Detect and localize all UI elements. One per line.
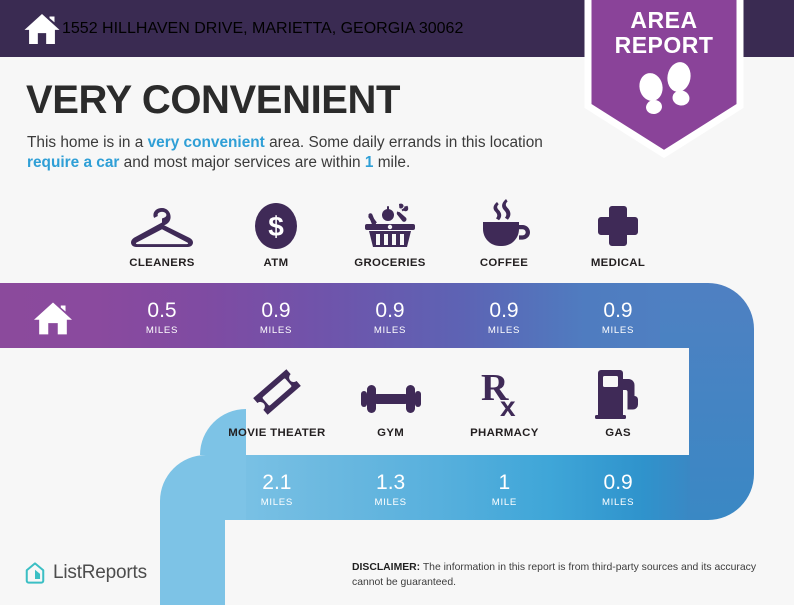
disclaimer: DISCLAIMER: The information in this repo…: [352, 561, 784, 591]
distance-value: 0.9: [604, 472, 633, 493]
icon-label-cleaners: CLEANERS: [129, 257, 194, 269]
icon-cell-gas: GAS: [561, 368, 675, 439]
icon-cell-gym: GYM: [334, 368, 448, 439]
distance-row-secondary: 2.1 MILES 1.3 MILES 1 MILE 0.9 MILES: [220, 460, 675, 520]
icon-cell-movie-theater: MOVIE THEATER: [220, 368, 334, 439]
distance-cell-coffee: 0.9 MILES: [447, 288, 561, 348]
distance-unit: MILES: [602, 497, 634, 508]
icon-label-gas: GAS: [605, 427, 631, 439]
distance-unit: MILES: [488, 325, 520, 336]
icon-cell-medical: MEDICAL: [561, 198, 675, 269]
listreports-logo-text: ListReports: [53, 562, 147, 584]
icon-label-pharmacy: PHARMACY: [470, 427, 539, 439]
distance-value: 0.9: [603, 300, 632, 321]
distance-cell-movie-theater: 2.1 MILES: [220, 460, 334, 520]
listreports-house-icon: [24, 561, 46, 585]
distance-unit: MILES: [146, 325, 178, 336]
header-address: 1552 HILLHAVEN DRIVE, MARIETTA, GEORGIA …: [62, 20, 463, 38]
desc-highlight-1: very convenient: [148, 134, 265, 151]
distance-value: 1.3: [376, 472, 405, 493]
icon-cell-atm: $ ATM: [219, 198, 333, 269]
desc-part-1: This home is in a: [27, 134, 148, 151]
coffee-cup-icon: [475, 198, 533, 250]
icon-row-secondary: MOVIE THEATER GYM R: [220, 368, 675, 439]
distance-cell-groceries: 0.9 MILES: [333, 288, 447, 348]
disclaimer-label: DISCLAIMER:: [352, 562, 420, 573]
distance-value: 1: [499, 472, 511, 493]
distance-value: 0.9: [261, 300, 290, 321]
listreports-logo: ListReports: [24, 561, 147, 585]
icon-label-atm: ATM: [264, 257, 289, 269]
distance-cell-gas: 0.9 MILES: [561, 460, 675, 520]
svg-text:x: x: [500, 391, 516, 420]
desc-part-2: area. Some daily errands in this locatio…: [265, 134, 543, 151]
icon-label-coffee: COFFEE: [480, 257, 528, 269]
area-report-infographic: 1552 HILLHAVEN DRIVE, MARIETTA, GEORGIA …: [0, 0, 794, 605]
icon-label-groceries: GROCERIES: [354, 257, 426, 269]
desc-part-4: mile.: [373, 154, 410, 171]
distance-value: 0.9: [489, 300, 518, 321]
icon-label-gym: GYM: [377, 427, 404, 439]
icon-label-movie-theater: MOVIE THEATER: [228, 427, 325, 439]
distance-cell-pharmacy: 1 MILE: [448, 460, 562, 520]
distance-row-primary: 0.5 MILES 0.9 MILES 0.9 MILES 0.9 MILES …: [105, 288, 675, 348]
home-origin-cell: [0, 288, 105, 348]
home-icon: [32, 299, 74, 337]
distance-cell-gym: 1.3 MILES: [334, 460, 448, 520]
home-icon: [22, 9, 62, 49]
distance-unit: MILES: [260, 325, 292, 336]
movie-ticket-icon: [249, 368, 305, 420]
page-description: This home is in a very convenient area. …: [27, 133, 572, 174]
distance-unit: MILES: [602, 325, 634, 336]
badge-shape: [588, 0, 740, 154]
svg-text:$: $: [268, 211, 284, 242]
icon-row-primary: CLEANERS $ ATM: [105, 198, 675, 269]
distance-value: 0.5: [147, 300, 176, 321]
desc-part-3: and most major services are within: [119, 154, 364, 171]
page-title: VERY CONVENIENT: [26, 78, 400, 123]
grocery-basket-icon: [361, 198, 419, 250]
distance-value: 2.1: [262, 472, 291, 493]
distance-unit: MILE: [492, 497, 517, 508]
gas-pump-icon: [594, 368, 642, 420]
desc-highlight-2: require a car: [27, 154, 119, 171]
icon-cell-cleaners: CLEANERS: [105, 198, 219, 269]
icon-cell-pharmacy: R x PHARMACY: [448, 368, 562, 439]
icon-cell-coffee: COFFEE: [447, 198, 561, 269]
area-report-badge: AREA REPORT: [566, 0, 762, 160]
distance-unit: MILES: [374, 325, 406, 336]
medical-cross-icon: [594, 198, 642, 250]
prescription-rx-icon: R x: [479, 368, 529, 420]
distance-cell-atm: 0.9 MILES: [219, 288, 333, 348]
distance-cell-cleaners: 0.5 MILES: [105, 288, 219, 348]
distance-cell-medical: 0.9 MILES: [561, 288, 675, 348]
hanger-icon: [130, 198, 194, 250]
icon-label-medical: MEDICAL: [591, 257, 645, 269]
icon-cell-groceries: GROCERIES: [333, 198, 447, 269]
distance-value: 0.9: [375, 300, 404, 321]
distance-unit: MILES: [261, 497, 293, 508]
distance-unit: MILES: [374, 497, 406, 508]
dollar-coin-icon: $: [252, 198, 300, 250]
dumbbell-icon: [361, 368, 421, 420]
